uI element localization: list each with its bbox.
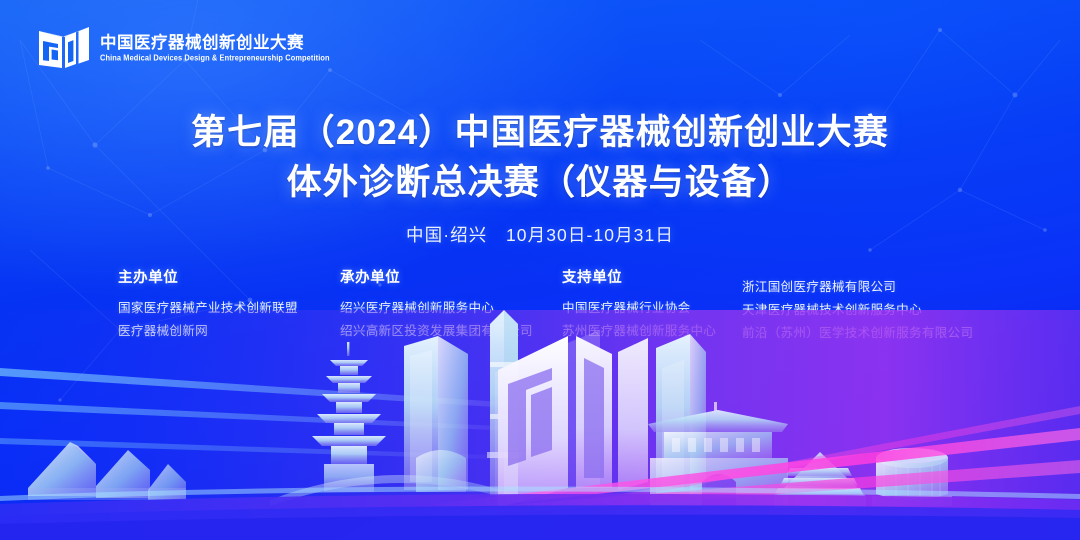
organizer-item: 苏州医疗器械创新服务中心 (562, 320, 742, 343)
event-location-date: 中国·绍兴 10月30日-10月31日 (0, 222, 1080, 247)
bridge-icon (270, 475, 530, 506)
organizer-item: 国家医疗器械产业技术创新联盟 (118, 297, 340, 320)
organizer-column-host: 主办单位 国家医疗器械产业技术创新联盟 医疗器械创新网 (118, 266, 340, 345)
hero-title-block: 第七届（2024）中国医疗器械创新创业大赛 体外诊断总决赛（仪器与设备） 中国·… (0, 108, 1080, 247)
pagoda-icon (312, 342, 386, 492)
brand-name-cn: 中国医疗器械创新创业大赛 (100, 35, 330, 52)
skyscraper-icon (404, 336, 468, 492)
organizer-item: 前沿（苏州）医学技术创新服务有限公司 (742, 322, 992, 345)
city-gate-icon (648, 402, 788, 506)
organizer-column-supporter-overflow: 浙江国创医疗器械有限公司 天津医疗器械技术创新服务中心 前沿（苏州）医学技术创新… (742, 266, 992, 345)
organizer-item: 中国医疗器械行业协会 (562, 297, 742, 320)
organizer-item: 绍兴医疗器械创新服务中心 (340, 297, 562, 320)
light-streaks-right (380, 406, 1080, 522)
organizer-item: 浙江国创医疗器械有限公司 (742, 276, 992, 299)
organizer-heading: 主办单位 (118, 266, 340, 287)
opera-house-icon (28, 442, 186, 500)
organizer-item: 天津医疗器械技术创新服务中心 (742, 299, 992, 322)
title-line-1: 第七届（2024）中国医疗器械创新创业大赛 (0, 108, 1080, 158)
organizer-item: 绍兴高新区投资发展集团有限公司 (340, 320, 562, 343)
light-streaks-left (0, 368, 560, 460)
open-door-book-logo-icon (38, 24, 90, 72)
organizers-block: 主办单位 国家医疗器械产业技术创新联盟 医疗器械创新网 承办单位 绍兴医疗器械创… (118, 266, 998, 345)
poster-canvas: 中国医疗器械创新创业大赛 China Medical Devices Desig… (0, 0, 1080, 540)
brand-name-en: China Medical Devices Design & Entrepren… (100, 53, 330, 61)
brand-logo: 中国医疗器械创新创业大赛 China Medical Devices Desig… (38, 24, 330, 72)
stepped-building-icon (774, 452, 866, 508)
organizer-heading: 承办单位 (340, 266, 562, 287)
organizer-heading: 支持单位 (562, 266, 742, 287)
organizer-item: 医疗器械创新网 (118, 320, 340, 343)
stadium-icon (872, 448, 952, 506)
organizer-column-coorganizer: 承办单位 绍兴医疗器械创新服务中心 绍兴高新区投资发展集团有限公司 (340, 266, 562, 345)
organizer-column-supporter: 支持单位 中国医疗器械行业协会 苏州医疗器械创新服务中心 (562, 266, 742, 345)
open-door-book-monument-icon (495, 330, 648, 508)
title-line-2: 体外诊断总决赛（仪器与设备） (0, 158, 1080, 208)
skyscraper-right-icon (656, 334, 706, 498)
